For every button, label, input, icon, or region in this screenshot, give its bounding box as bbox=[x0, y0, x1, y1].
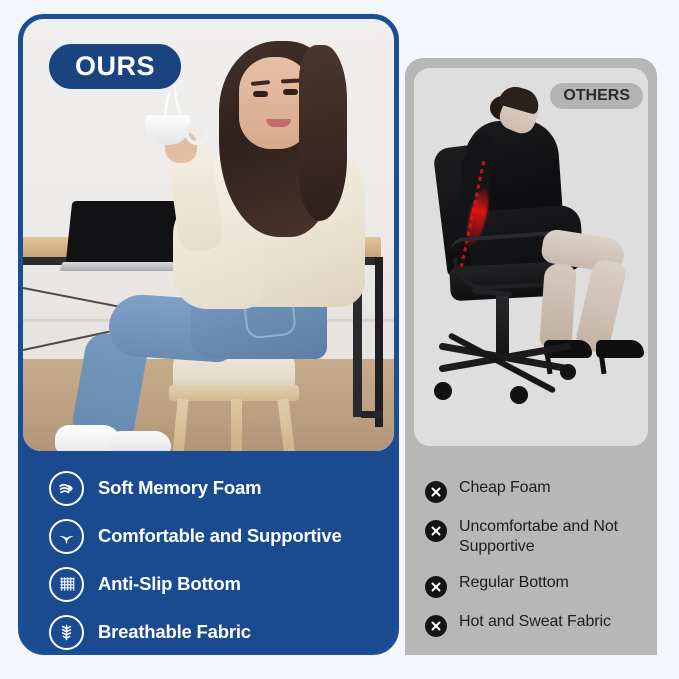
person-eye bbox=[253, 91, 268, 97]
others-feature-item: Hot and Sweat Fabric bbox=[425, 612, 657, 637]
others-panel: OTHERS Cheap Foam Uncomfortabe and Not S… bbox=[405, 58, 657, 655]
laptop-screen bbox=[66, 201, 181, 263]
chair-caster bbox=[510, 386, 528, 404]
person-lower-leg bbox=[539, 263, 577, 351]
ours-feature-item: Soft Memory Foam bbox=[49, 473, 394, 503]
x-circle-icon bbox=[425, 615, 447, 637]
chair-caster bbox=[434, 382, 452, 400]
person-hair-front bbox=[299, 45, 347, 221]
breathable-fabric-icon bbox=[49, 615, 84, 650]
chair-caster bbox=[560, 364, 576, 380]
ours-feature-label: Comfortable and Supportive bbox=[98, 525, 342, 547]
chair-gas-cylinder bbox=[496, 294, 509, 360]
person-sneaker bbox=[109, 431, 171, 451]
others-feature-list: Cheap Foam Uncomfortabe and Not Supporti… bbox=[405, 456, 657, 655]
ours-feature-item: Breathable Fabric bbox=[49, 617, 394, 647]
memory-foam-icon bbox=[49, 471, 84, 506]
others-feature-item: Regular Bottom bbox=[425, 573, 657, 598]
others-feature-label: Cheap Foam bbox=[459, 478, 551, 498]
desk-crossbar bbox=[361, 411, 383, 418]
others-feature-item: Cheap Foam bbox=[425, 478, 657, 503]
ours-feature-label: Soft Memory Foam bbox=[98, 477, 261, 499]
laptop-keyboard bbox=[60, 262, 189, 271]
x-circle-icon bbox=[425, 481, 447, 503]
ours-badge: OURS bbox=[47, 42, 183, 91]
anti-slip-grid-icon bbox=[49, 567, 84, 602]
ours-panel: OURS Soft Memory Foam bbox=[18, 14, 399, 655]
coffee-cup-handle bbox=[185, 121, 209, 145]
others-product-photo bbox=[414, 68, 648, 446]
others-feature-item: Uncomfortabe and Not Supportive bbox=[425, 517, 657, 557]
stool-leg bbox=[231, 399, 242, 451]
person-eye bbox=[283, 89, 298, 95]
x-circle-icon bbox=[425, 520, 447, 542]
others-badge: OTHERS bbox=[550, 83, 643, 109]
others-feature-label: Regular Bottom bbox=[459, 573, 569, 593]
ours-feature-item: Comfortable and Supportive bbox=[49, 521, 394, 551]
others-feature-label: Hot and Sweat Fabric bbox=[459, 612, 611, 632]
comparison-infographic: OURS Soft Memory Foam bbox=[0, 0, 679, 679]
ours-feature-label: Anti-Slip Bottom bbox=[98, 573, 241, 595]
ours-feature-label: Breathable Fabric bbox=[98, 621, 251, 643]
leaf-comfort-icon bbox=[49, 519, 84, 554]
desk-leg bbox=[375, 257, 383, 427]
ours-feature-list: Soft Memory Foam Comfortable and Support… bbox=[23, 451, 394, 650]
ours-feature-item: Anti-Slip Bottom bbox=[49, 569, 394, 599]
x-circle-icon bbox=[425, 576, 447, 598]
others-feature-label: Uncomfortabe and Not Supportive bbox=[459, 517, 657, 557]
